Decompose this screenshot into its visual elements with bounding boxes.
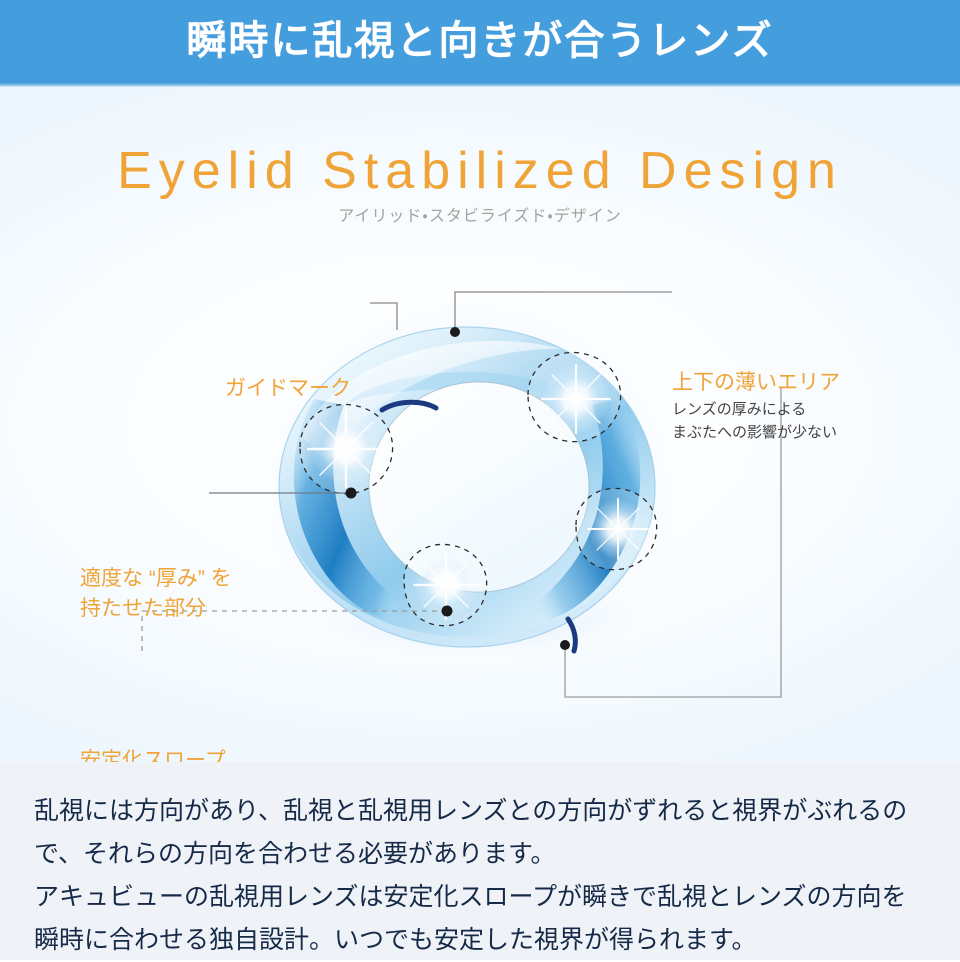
callout-stabilization-slope-label: 安定化スロープ (80, 746, 319, 762)
banner-title: 瞬時に乱視と向きが合うレンズ (186, 21, 773, 61)
callout-stabilization-slope: 安定化スロープ レンズの安定をスピーディーに実現 (80, 746, 319, 762)
bottom-paragraph-2: アキュビューの乱視用レンズは安定化スロープが瞬きで乱視とレンズの方向を瞬時に合わ… (34, 876, 926, 962)
page-title-en: Eyelid Stabilized Design (0, 145, 960, 197)
callout-thin-area-desc-1: レンズの厚みによる (672, 398, 840, 421)
callout-thick-area-label-1: 適度な “厚み” を (80, 564, 232, 594)
page-title-ja: アイリッド・スタビライズド・デザイン (0, 209, 960, 225)
callout-thin-area-desc-2: まぶたへの影響が少ない (672, 421, 840, 444)
callout-thick-area: 適度な “厚み” を 持たせた部分 (80, 564, 232, 624)
callout-thin-area-label: 上下の薄いエリア (672, 368, 840, 398)
callout-thin-area: 上下の薄いエリア レンズの厚みによる まぶたへの影響が少ない (672, 368, 840, 444)
highlight-zone-left (300, 404, 393, 493)
bottom-description-panel: 乱視には方向があり、乱視と乱視用レンズとの方向がずれると視界がぶれるので、それら… (0, 762, 960, 960)
callout-guide-mark-label: ガイドマーク (225, 374, 351, 404)
bottom-paragraph-1: 乱視には方向があり、乱視と乱視用レンズとの方向がずれると視界がぶれるので、それら… (34, 790, 926, 876)
contact-lens-illustration (232, 287, 702, 687)
header-banner: 瞬時に乱視と向きが合うレンズ (0, 0, 960, 82)
callout-thick-area-label-2: 持たせた部分 (80, 594, 232, 624)
highlight-zone-right (576, 488, 657, 569)
page-root: 瞬時に乱視と向きが合うレンズ Eyelid Stabilized Design … (0, 0, 960, 960)
highlight-zone-bottom (404, 544, 487, 625)
highlight-zone-top-right (528, 352, 621, 441)
illustration-stage: Eyelid Stabilized Design アイリッド・スタビライズド・デ… (0, 87, 960, 762)
callout-guide-mark: ガイドマーク (225, 374, 351, 404)
